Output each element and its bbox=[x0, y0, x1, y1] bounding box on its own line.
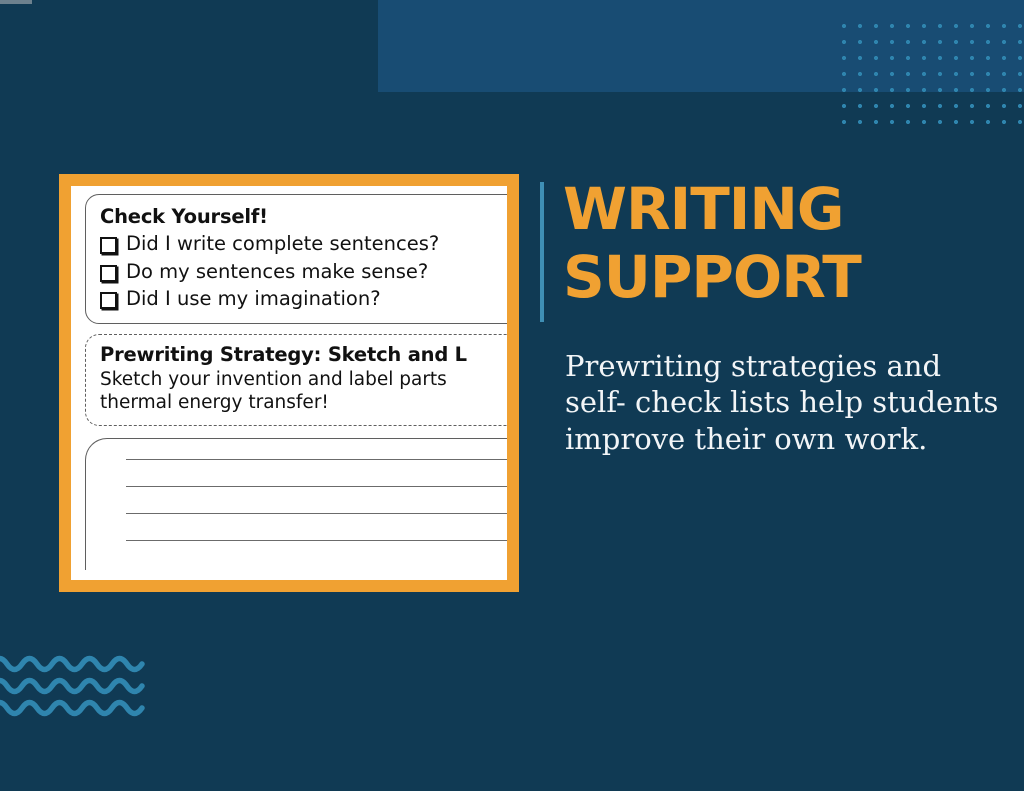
worksheet-image-inner: Check Yourself! Did I write complete sen… bbox=[71, 186, 507, 580]
prewriting-strategy-line-2: thermal energy transfer! bbox=[100, 391, 507, 415]
checklist-item[interactable]: Did I use my imagination? bbox=[100, 286, 507, 311]
checkbox-icon[interactable] bbox=[100, 237, 117, 254]
body-description: Prewriting strategies and self- check li… bbox=[565, 348, 1005, 457]
page-title: WRITING SUPPORT bbox=[563, 175, 1003, 312]
writing-line bbox=[126, 513, 507, 514]
check-yourself-panel: Check Yourself! Did I write complete sen… bbox=[85, 194, 507, 324]
wave-lines-decoration bbox=[0, 650, 170, 718]
prewriting-strategy-panel: Prewriting Strategy: Sketch and L Sketch… bbox=[85, 334, 507, 426]
worksheet-image-card[interactable]: Check Yourself! Did I write complete sen… bbox=[59, 174, 519, 592]
checkbox-icon[interactable] bbox=[100, 265, 117, 282]
page-title-line-2: SUPPORT bbox=[563, 243, 1003, 311]
checklist-item-label: Do my sentences make sense? bbox=[126, 259, 428, 284]
page-title-line-1: WRITING bbox=[563, 175, 1003, 243]
prewriting-strategy-line-1: Sketch your invention and label parts bbox=[100, 368, 507, 392]
writing-lines-panel bbox=[85, 438, 507, 570]
headline-accent-bar bbox=[540, 182, 544, 322]
worksheet-sheet: Check Yourself! Did I write complete sen… bbox=[85, 194, 507, 580]
dot-grid-decoration bbox=[836, 18, 1024, 130]
check-yourself-heading: Check Yourself! bbox=[100, 205, 507, 229]
checklist-item-label: Did I write complete sentences? bbox=[126, 231, 439, 256]
checkbox-icon[interactable] bbox=[100, 292, 117, 309]
top-left-hairline bbox=[0, 0, 32, 4]
writing-line bbox=[126, 486, 507, 487]
wave-lines-icon bbox=[0, 650, 170, 718]
writing-line bbox=[126, 459, 507, 460]
writing-line bbox=[126, 540, 507, 541]
checklist-item-label: Did I use my imagination? bbox=[126, 286, 381, 311]
checklist-item[interactable]: Do my sentences make sense? bbox=[100, 259, 507, 284]
checklist-item[interactable]: Did I write complete sentences? bbox=[100, 231, 507, 256]
slide-canvas: Check Yourself! Did I write complete sen… bbox=[0, 0, 1024, 791]
prewriting-strategy-heading: Prewriting Strategy: Sketch and L bbox=[100, 343, 507, 367]
